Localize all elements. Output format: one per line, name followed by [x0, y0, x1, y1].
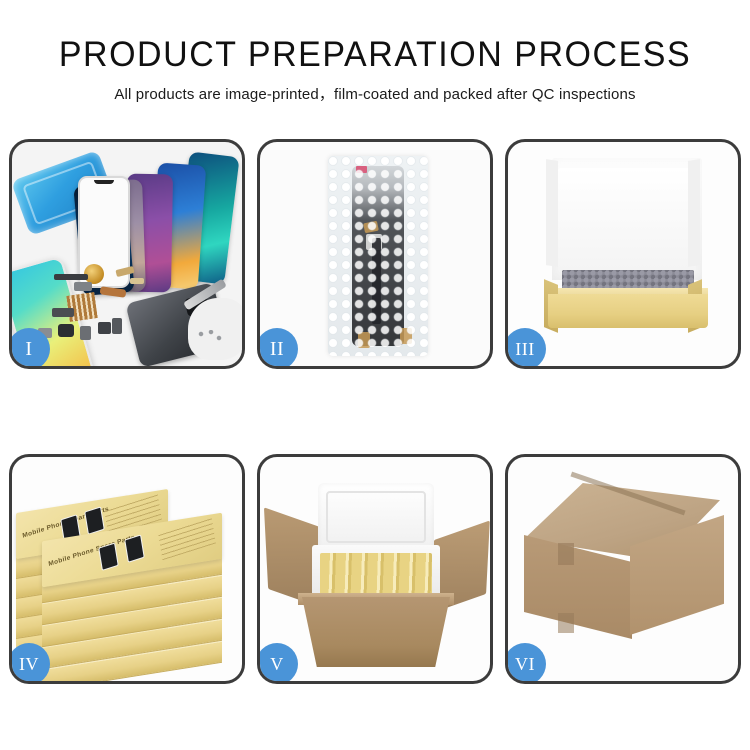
process-step-grid: I II — [9, 139, 741, 684]
carton-tape-lower — [558, 613, 574, 633]
step-badge-1: I — [9, 328, 50, 369]
white-foam-sheet — [558, 168, 696, 272]
box-spec-lines-front — [158, 516, 216, 560]
product-preparation-page: PRODUCT PREPARATION PROCESS All products… — [0, 0, 750, 750]
photo-screen-assembly-in-bubble-wrap — [260, 142, 490, 366]
carton-front-panel — [302, 597, 450, 667]
process-step-panel-3[interactable]: III — [505, 139, 741, 369]
carton-tape-upper — [558, 543, 574, 565]
part-small-5 — [112, 318, 122, 334]
chip-contact-grid — [66, 292, 97, 322]
part-small-1 — [52, 308, 74, 317]
process-step-panel-4[interactable]: Mobile Phone Spare Parts Mobile Phone Sp… — [9, 454, 245, 684]
box-stack-front: Mobile Phone Spare Parts — [42, 527, 222, 681]
part-small-2 — [58, 324, 74, 337]
part-strip-3 — [130, 278, 144, 284]
photo-carton-with-foam-box-and-yellow-boxes — [260, 457, 490, 681]
process-step-panel-1[interactable]: I — [9, 139, 245, 369]
step-badge-4: IV — [9, 643, 50, 684]
page-title: PRODUCT PREPARATION PROCESS — [11, 34, 739, 76]
page-subtitle: All products are image-printed，film-coat… — [0, 85, 750, 105]
step-badge-6: VI — [505, 643, 546, 684]
process-step-panel-6[interactable]: VI — [505, 454, 741, 684]
box-thumbnail-b2 — [124, 534, 145, 562]
phone-notch — [94, 180, 114, 184]
part-strip-1 — [54, 274, 88, 280]
photo-open-yellow-box-with-foam-insert — [508, 142, 738, 366]
photo-stacked-yellow-spare-parts-boxes: Mobile Phone Spare Parts Mobile Phone Sp… — [12, 457, 242, 681]
box-front-panel — [548, 294, 708, 328]
step-badge-2: II — [257, 328, 298, 369]
photo-sealed-brown-shipping-carton — [508, 457, 738, 681]
page-header: PRODUCT PREPARATION PROCESS All products… — [0, 0, 750, 105]
box-thumbnail-b1 — [98, 543, 119, 571]
part-small-7 — [74, 282, 92, 291]
yellow-boxes-inside — [320, 553, 432, 595]
box-flap-right — [688, 159, 700, 267]
bubble-wrap-overlay — [328, 156, 428, 356]
screws-group — [198, 330, 224, 344]
part-small-3 — [80, 326, 91, 340]
box-lid-label-front: Mobile Phone Spare Parts — [48, 534, 135, 568]
step-badge-3: III — [505, 328, 546, 369]
box-flap-left — [546, 159, 558, 267]
step-badge-5: V — [257, 643, 298, 684]
part-small-4 — [98, 322, 111, 334]
process-step-panel-5[interactable]: V — [257, 454, 493, 684]
hand-blur — [188, 298, 242, 360]
foam-box-lid — [318, 483, 434, 553]
photo-phone-screens-and-spare-parts — [12, 142, 242, 366]
process-step-panel-2[interactable]: II — [257, 139, 493, 369]
